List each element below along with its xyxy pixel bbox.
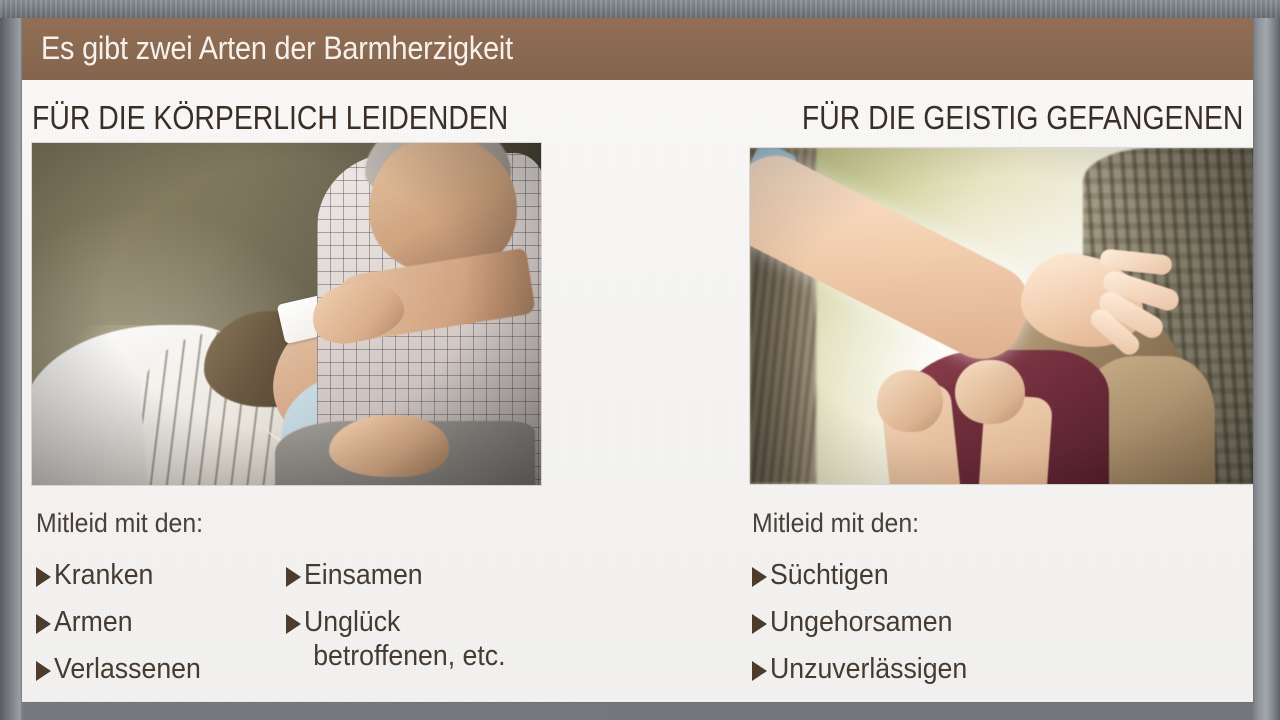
list-item: Ungehorsamen (752, 605, 984, 639)
right-column-lead-text: Mitleid mit den: (752, 508, 919, 538)
list-item: Unzuverlässigen (752, 652, 984, 686)
list-item-label: Armen (54, 605, 139, 639)
left-column-bullets-col1: Kranken Armen Verlassenen (36, 558, 214, 699)
photo-vignette (32, 143, 541, 485)
left-column-photo (32, 143, 541, 485)
left-column-bullets-col2: Einsamen Unglück betroffenen, etc. (286, 558, 523, 686)
slide-title-text: Es gibt zwei Arten der Barmherzigkeit (41, 30, 513, 67)
list-item-label: Verlassenen (54, 652, 214, 686)
triangle-bullet-icon (752, 614, 767, 634)
list-item: Süchtigen (752, 558, 984, 592)
right-column-photo (750, 148, 1253, 484)
list-item-label: Ungehorsamen (770, 605, 968, 639)
left-column-lead-text: Mitleid mit den: (36, 508, 203, 538)
list-item: Armen (36, 605, 214, 639)
right-column-heading: FÜR DIE GEISTIG GEFANGENEN (730, 100, 1243, 136)
slide-title: Es gibt zwei Arten der Barmherzigkeit (41, 30, 565, 67)
list-item-label-line2: betroffenen, etc. (304, 639, 506, 673)
list-item-label: Unzuverlässigen (770, 652, 984, 686)
triangle-bullet-icon (286, 567, 301, 587)
right-column-heading-text: FÜR DIE GEISTIG GEFANGENEN (801, 100, 1243, 136)
triangle-bullet-icon (752, 661, 767, 681)
right-column: FÜR DIE GEISTIG GEFANGENEN (722, 80, 1253, 702)
list-item: Verlassenen (36, 652, 214, 686)
list-item-label: Unglück betroffenen, etc. (304, 605, 523, 673)
right-column-lead: Mitleid mit den: (752, 508, 934, 538)
right-column-bullets: Süchtigen Ungehorsamen Unzuverlässigen (752, 558, 984, 699)
photo-vignette (750, 148, 1253, 484)
title-bar: Es gibt zwei Arten der Barmherzigkeit (22, 18, 1253, 80)
list-item-label: Einsamen (304, 558, 433, 592)
triangle-bullet-icon (36, 614, 51, 634)
list-item: Kranken (36, 558, 214, 592)
triangle-bullet-icon (286, 614, 301, 634)
list-item: Unglück betroffenen, etc. (286, 605, 523, 673)
slide-canvas: Es gibt zwei Arten der Barmherzigkeit FÜ… (22, 18, 1253, 702)
slide-frame: Es gibt zwei Arten der Barmherzigkeit FÜ… (0, 0, 1280, 720)
left-column-lead: Mitleid mit den: (36, 508, 218, 538)
list-item-label: Kranken (54, 558, 162, 592)
triangle-bullet-icon (36, 567, 51, 587)
list-item: Einsamen (286, 558, 523, 592)
left-column: FÜR DIE KÖRPERLICH LEIDENDEN (22, 80, 722, 702)
triangle-bullet-icon (752, 567, 767, 587)
left-column-heading: FÜR DIE KÖRPERLICH LEIDENDEN (32, 100, 586, 136)
triangle-bullet-icon (36, 661, 51, 681)
list-item-label: Süchtigen (770, 558, 899, 592)
left-column-heading-text: FÜR DIE KÖRPERLICH LEIDENDEN (32, 100, 508, 136)
